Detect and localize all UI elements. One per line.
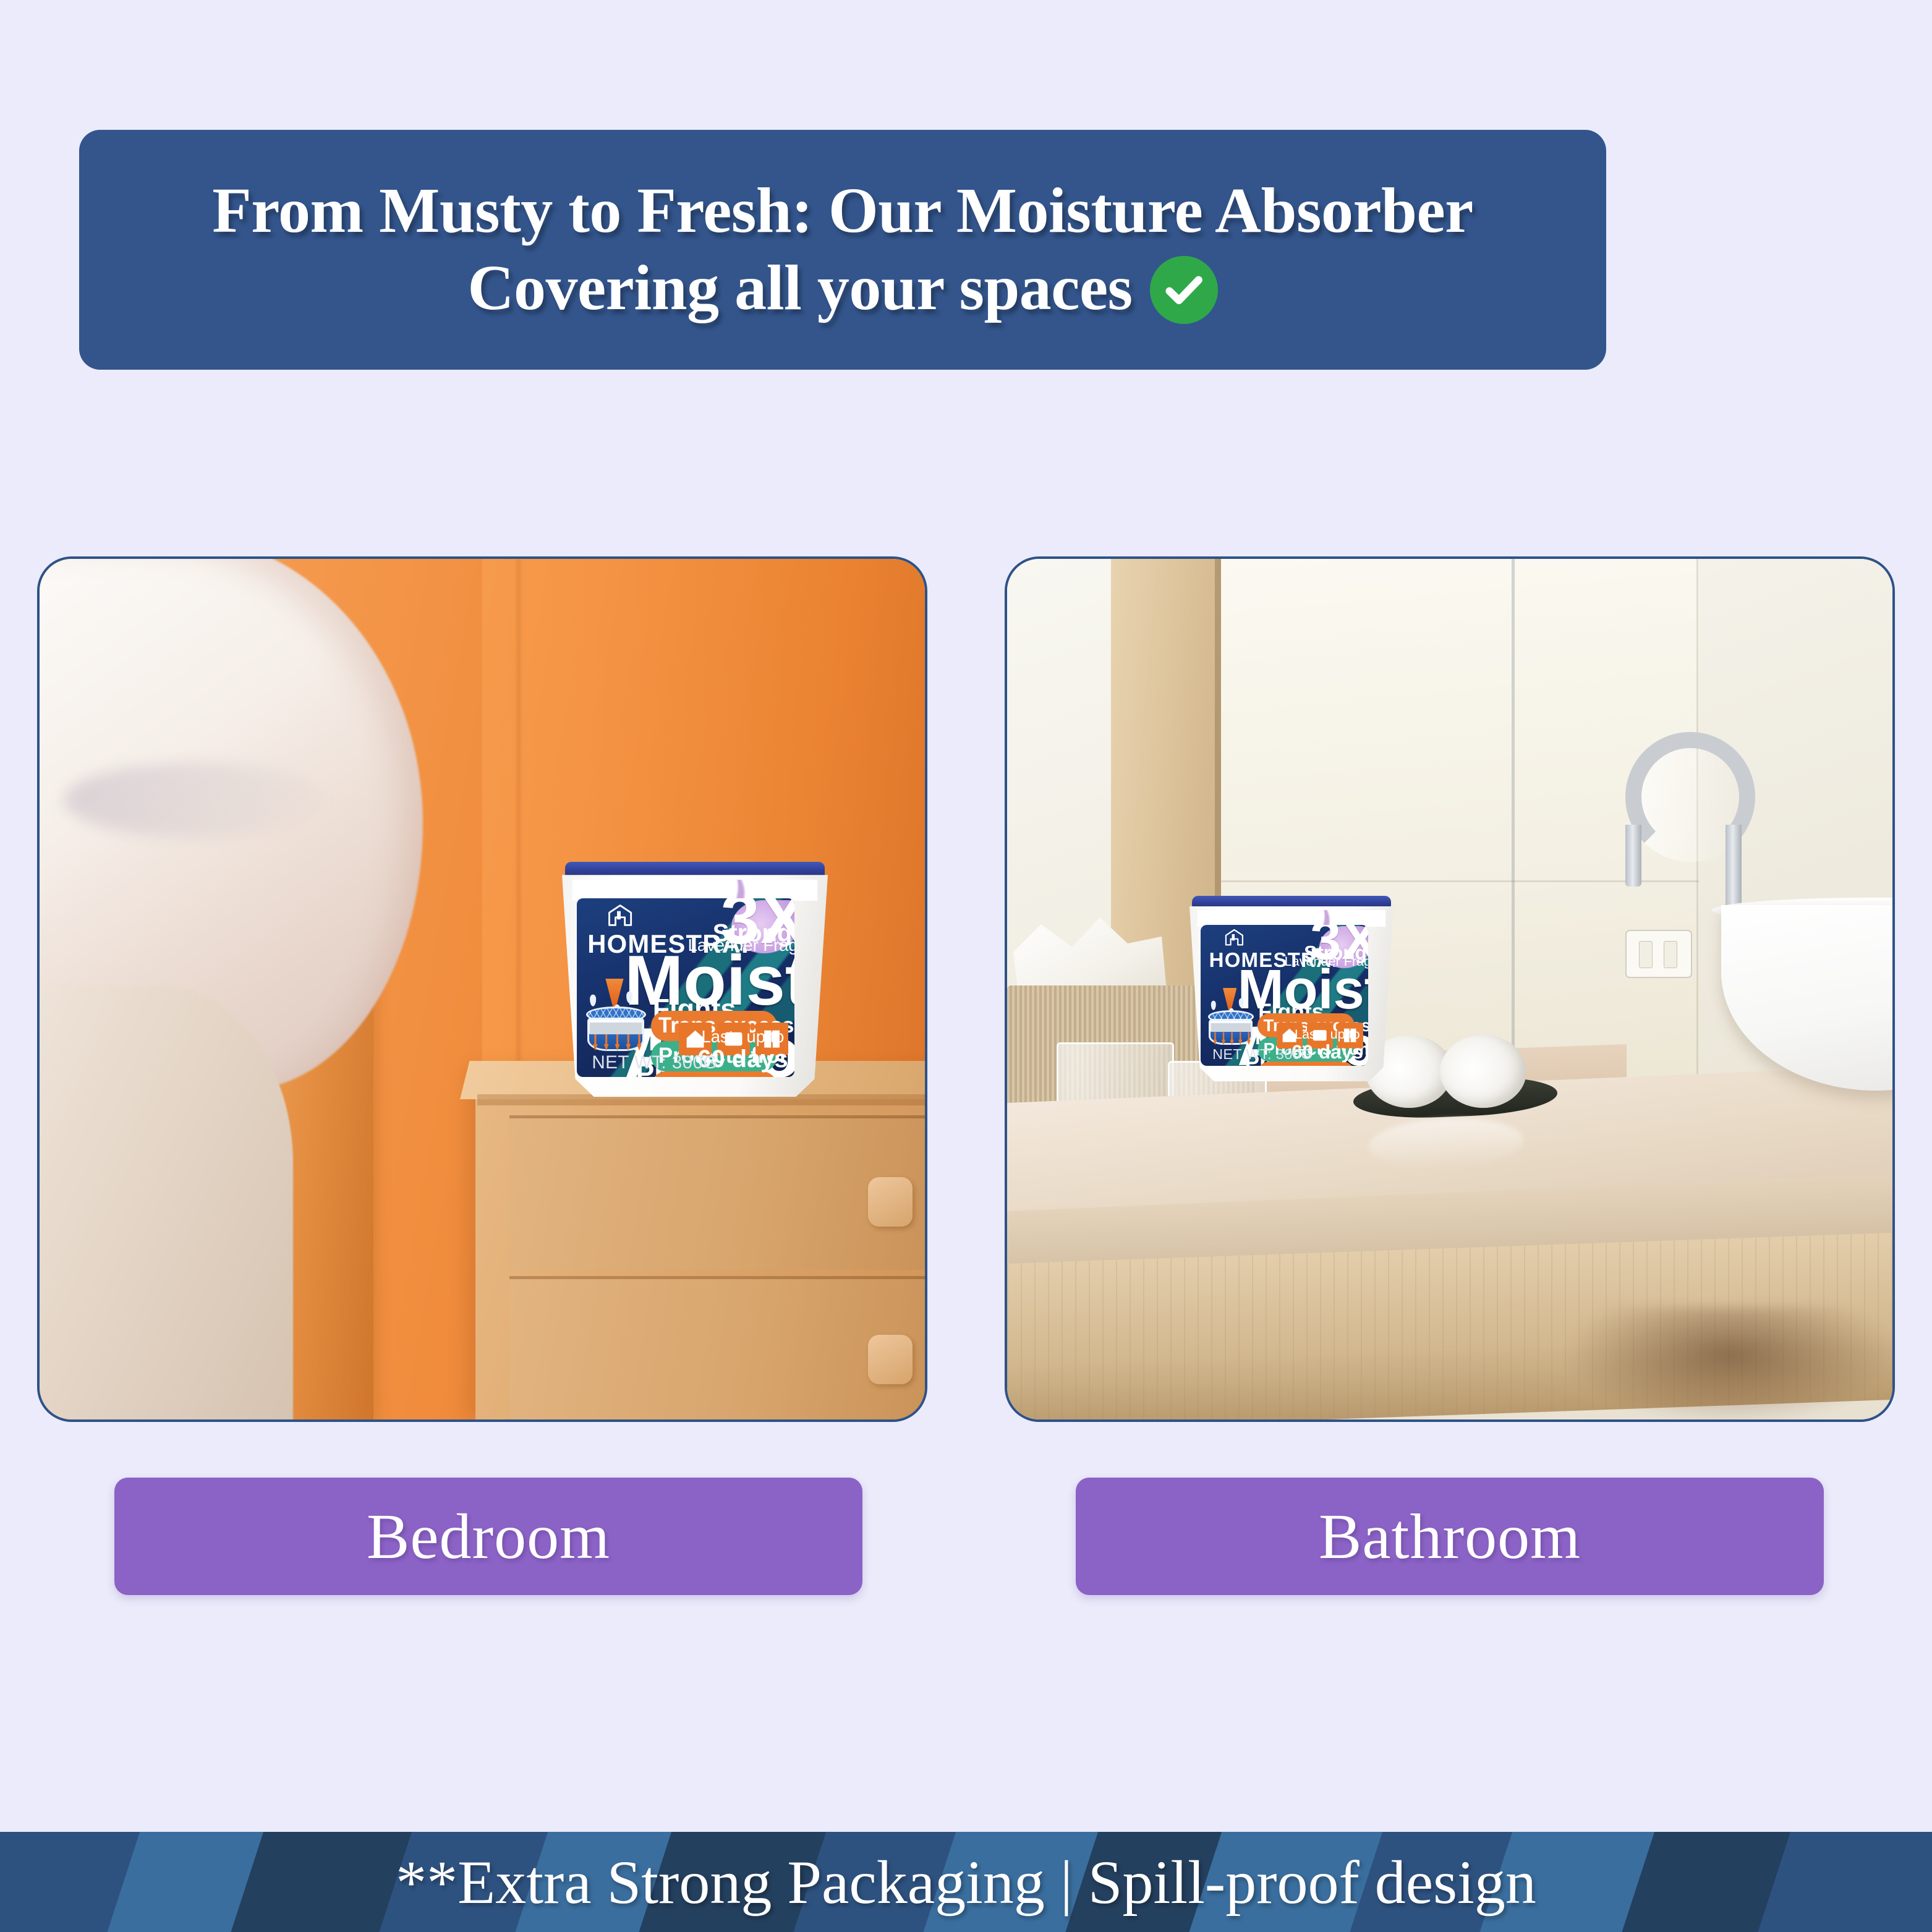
- footer-banner: **Extra Strong Packaging | Spill-proof d…: [0, 1832, 1932, 1932]
- header-title-line2: Covering all your spaces: [467, 250, 1132, 327]
- room-label-text: Bathroom: [1319, 1500, 1581, 1573]
- under-cabinet-shadow: [1564, 1307, 1892, 1419]
- product-tub-bathroom: HOMESTRAP 3X Stronger Lavender Fragrance…: [1189, 896, 1394, 1081]
- duration-prefix: Lasts up to: [697, 1028, 788, 1046]
- marketing-page: From Musty to Fresh: Our Moisture Absorb…: [0, 0, 1932, 1932]
- header-line-2: Covering all your spaces: [116, 250, 1569, 327]
- absorption-diagram-icon: [583, 977, 653, 1059]
- net-weight: NET WT: 300G: [1212, 1046, 1313, 1063]
- header-banner: From Musty to Fresh: Our Moisture Absorb…: [79, 130, 1606, 370]
- tub-lid: [1192, 896, 1391, 908]
- check-circle-icon: [1150, 256, 1218, 324]
- footer-text: **Extra Strong Packaging | Spill-proof d…: [396, 1847, 1536, 1918]
- photo-card-row: HOMESTRAP 3X Stronger Lavender Fragrance…: [0, 556, 1932, 1484]
- room-label-bedroom[interactable]: Bedroom: [114, 1478, 862, 1595]
- bathroom-scene: HOMESTRAP 3X Stronger Lavender Fragrance…: [1007, 559, 1892, 1419]
- light-switch[interactable]: [1625, 930, 1692, 978]
- home-logo-icon: [1225, 929, 1244, 946]
- photo-card-bathroom[interactable]: HOMESTRAP 3X Stronger Lavender Fragrance…: [1005, 556, 1895, 1422]
- nightstand-drawer-bottom: [509, 1276, 925, 1419]
- product-tub-bedroom: HOMESTRAP 3X Stronger Lavender Fragrance…: [562, 862, 828, 1097]
- header-line-1: From Musty to Fresh: Our Moisture Absorb…: [116, 172, 1569, 250]
- photo-card-bedroom[interactable]: HOMESTRAP 3X Stronger Lavender Fragrance…: [37, 556, 927, 1422]
- room-label-bathroom[interactable]: Bathroom: [1076, 1478, 1824, 1595]
- bedroom-scene: HOMESTRAP 3X Stronger Lavender Fragrance…: [40, 559, 925, 1419]
- bedroom-wall-edge: [517, 559, 520, 1127]
- absorption-diagram-icon: [1206, 987, 1259, 1052]
- tub-label: HOMESTRAP 3X Stronger Lavender Fragrance…: [1201, 925, 1368, 1066]
- room-label-text: Bedroom: [367, 1500, 610, 1573]
- pillow-fold: [64, 763, 324, 837]
- tub-label: HOMESTRAP 3X Stronger Lavender Fragrance…: [577, 898, 795, 1077]
- drawer-handle-bottom: [868, 1335, 913, 1384]
- net-weight: NET WT: 300G: [592, 1052, 717, 1073]
- duration-prefix: Lasts up to: [1292, 1027, 1363, 1042]
- tub-crystals: [1198, 910, 1385, 927]
- nightstand-drawer-top: [509, 1115, 925, 1270]
- tub-lid: [565, 862, 825, 877]
- tub-crystals: [572, 880, 817, 901]
- blanket: [40, 985, 293, 1419]
- rolled-towel: [1440, 1035, 1526, 1108]
- drawer-handle-top: [868, 1177, 913, 1227]
- home-logo-icon: [608, 904, 632, 927]
- mirror-divider: [1512, 559, 1515, 1101]
- header-title-line1: From Musty to Fresh: Our Moisture Absorb…: [212, 172, 1473, 250]
